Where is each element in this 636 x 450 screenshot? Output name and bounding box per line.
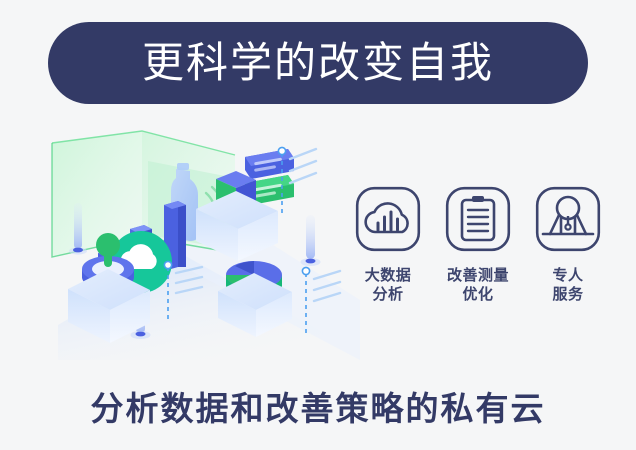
feature-label-line2: 服务 xyxy=(552,285,583,304)
tagline: 分析数据和改善策略的私有云 xyxy=(0,382,636,430)
feature-label-line1: 大数据 xyxy=(365,266,412,285)
cloud-bar-chart-icon xyxy=(355,186,421,252)
feature-list: 大数据 分析 改善测量 xyxy=(352,186,604,326)
light-stem-right xyxy=(301,215,321,266)
feature-label-big-data: 大数据 分析 xyxy=(365,266,412,304)
feature-label-line2: 优化 xyxy=(447,285,509,304)
illustration xyxy=(30,125,360,360)
feature-label-line2: 分析 xyxy=(365,285,412,304)
feature-label-service: 专人 服务 xyxy=(552,266,583,304)
feature-label-line1: 改善测量 xyxy=(447,266,509,285)
feature-item-measurement[interactable]: 改善测量 优化 xyxy=(442,186,514,304)
service-agent-icon xyxy=(535,186,601,252)
clipboard-icon xyxy=(445,186,511,252)
feature-label-measurement: 改善测量 优化 xyxy=(447,266,509,304)
feature-label-line1: 专人 xyxy=(552,266,583,285)
feature-item-big-data[interactable]: 大数据 分析 xyxy=(352,186,424,304)
page-title: 更科学的改变自我 xyxy=(142,42,494,84)
poster-stage: 更科学的改变自我 xyxy=(0,0,636,450)
feature-item-service[interactable]: 专人 服务 xyxy=(532,186,604,304)
header-banner: 更科学的改变自我 xyxy=(48,22,588,104)
blue-tag xyxy=(245,149,294,179)
